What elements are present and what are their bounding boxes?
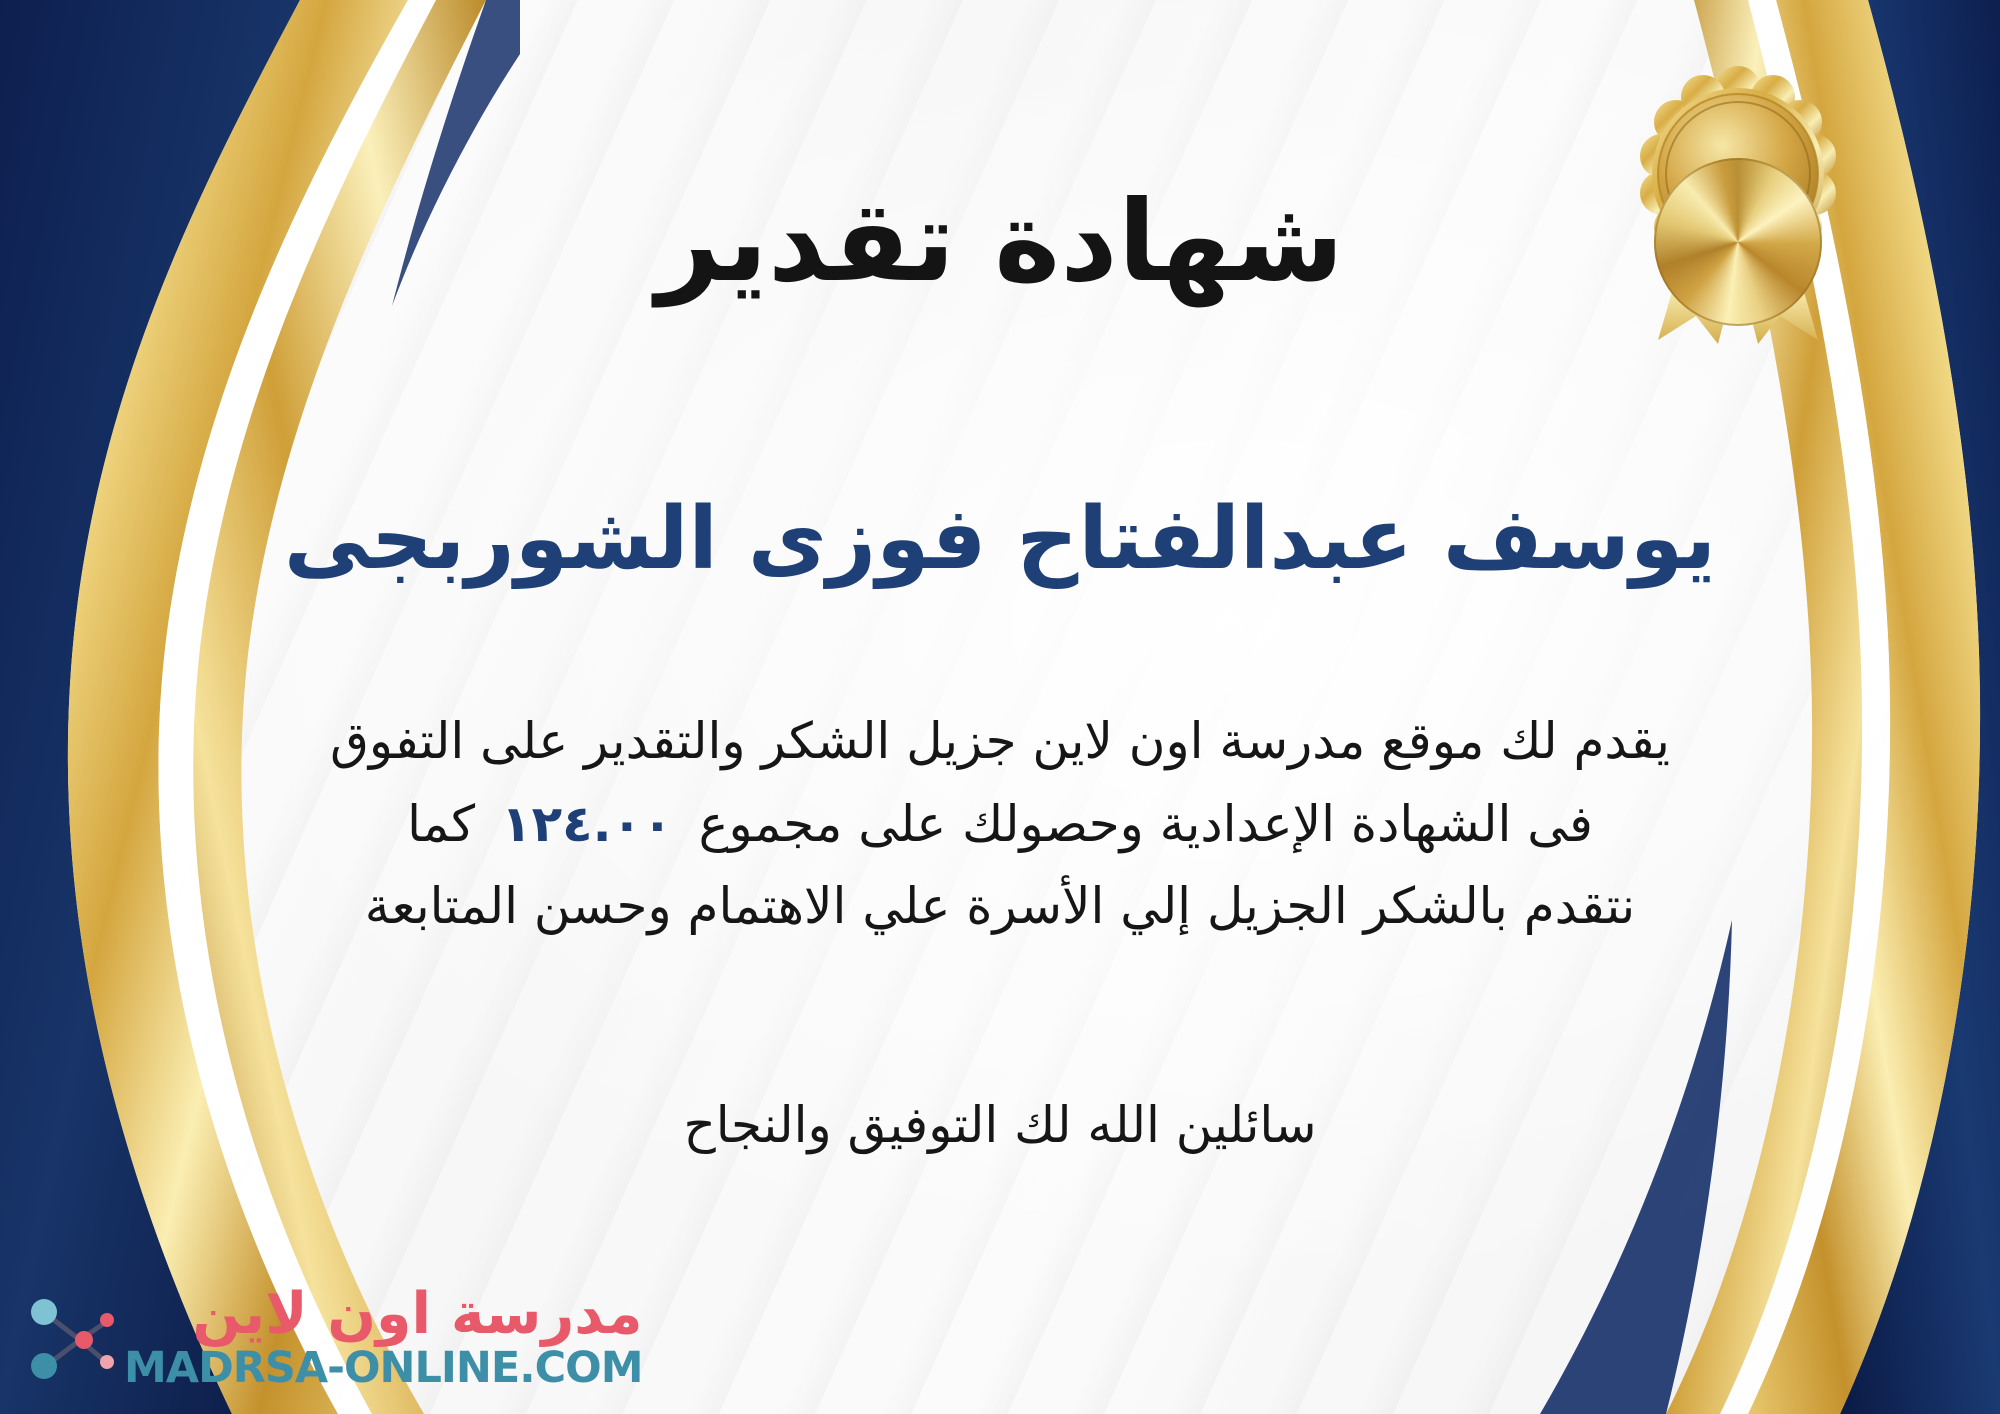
body-line-1: يقدم لك موقع مدرسة اون لاين جزيل الشكر و… — [60, 700, 1940, 783]
recipient-name: يوسف عبدالفتاح فوزى الشوربجى — [0, 486, 2000, 594]
closing-wish: سائلين الله لك التوفيق والنجاح — [60, 1085, 1940, 1165]
score-value: ١٢٤.٠٠ — [475, 795, 699, 853]
certificate-page: شهادة تقدير يوسف عبدالفتاح فوزى الشوربجى… — [0, 0, 2000, 1414]
brand-text: مدرسة اون لاين MADRSA-ONLINE.COM — [124, 1285, 643, 1392]
brand-logo[interactable]: مدرسة اون لاين MADRSA-ONLINE.COM — [22, 1285, 643, 1392]
body-line-3: نتقدم بالشكر الجزيل إلي الأسرة علي الاهت… — [60, 865, 1940, 948]
brand-arabic-name: مدرسة اون لاين — [192, 1285, 642, 1345]
body-line-2-suffix: كما — [407, 795, 475, 853]
body-line-2-prefix: فى الشهادة الإعدادية وحصولك على مجموع — [699, 795, 1593, 853]
body-line-2: فى الشهادة الإعدادية وحصولك على مجموع١٢٤… — [60, 783, 1940, 866]
network-nodes-icon — [22, 1292, 114, 1384]
certificate-body: يقدم لك موقع مدرسة اون لاين جزيل الشكر و… — [60, 700, 1940, 948]
brand-website: MADRSA-ONLINE.COM — [124, 1345, 643, 1392]
network-nodes-glyph — [22, 1292, 114, 1384]
page-title: شهادة تقدير — [0, 175, 2000, 309]
